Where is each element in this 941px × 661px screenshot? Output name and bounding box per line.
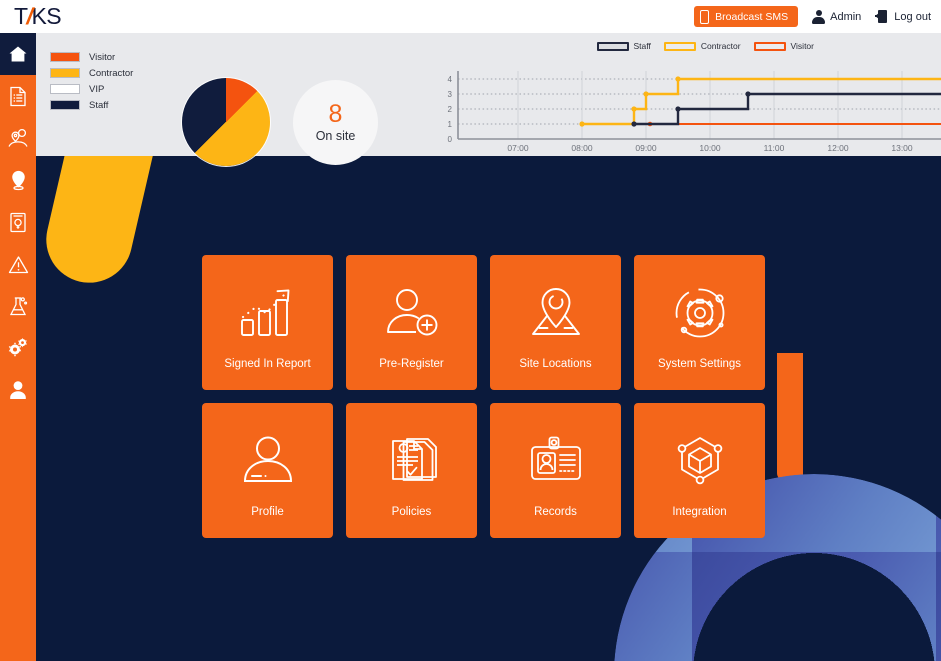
legend-item: Visitor: [50, 50, 133, 64]
legend-swatch-contractor: [50, 68, 80, 78]
svg-text:2: 2: [448, 105, 453, 114]
legend-item: Contractor: [50, 66, 133, 80]
documents-stack-icon: [383, 430, 441, 492]
sidebar-item-hazard[interactable]: [0, 243, 36, 285]
tile-label: System Settings: [658, 358, 741, 370]
tile-label: Policies: [392, 506, 432, 518]
svg-text:09:00: 09:00: [635, 143, 657, 153]
tile-label: Integration: [672, 506, 726, 518]
legend-item-contractor: Contractor: [664, 41, 741, 51]
legend-label-contractor-line: Contractor: [701, 41, 741, 51]
line-chart-legend: Staff Contractor Visitor: [597, 41, 820, 51]
tile-records[interactable]: Records: [490, 403, 621, 538]
tile-policies[interactable]: Policies: [346, 403, 477, 538]
sidebar-item-map-pin[interactable]: [0, 159, 36, 201]
legend-label-visitor: Visitor: [89, 52, 115, 63]
user-icon: [239, 430, 297, 492]
decorative-amber-shape: [38, 156, 165, 291]
tile-integration[interactable]: Integration: [634, 403, 765, 538]
svg-text:4: 4: [448, 75, 453, 84]
lab-flask-icon: [8, 296, 28, 317]
occupancy-line-chart: Staff Contractor Visitor: [410, 41, 941, 153]
legend-item: VIP: [50, 82, 133, 96]
logout-label: Log out: [894, 11, 931, 23]
tile-label: Signed In Report: [224, 358, 310, 370]
line-chart-svg: 0 1 2 3 4 07:00 08:00 09:00 10:00 11:00 …: [410, 41, 941, 153]
logout-icon: [875, 10, 889, 23]
legend-swatch-contractor-line: [664, 42, 696, 51]
legend-item: Staff: [50, 98, 133, 112]
user-menu[interactable]: Admin: [812, 10, 861, 24]
legend-swatch-visitor: [50, 52, 80, 62]
sidebar-item-documents[interactable]: [0, 75, 36, 117]
sidebar-item-permit[interactable]: [0, 201, 36, 243]
sidebar-item-home[interactable]: [0, 33, 36, 75]
svg-text:3: 3: [448, 90, 453, 99]
home-icon: [8, 45, 28, 63]
permit-badge-icon: [9, 212, 27, 233]
pie-legend: Visitor Contractor VIP Staff: [50, 50, 133, 114]
bar-chart-growth-icon: [239, 282, 297, 344]
tile-signed-in-report[interactable]: Signed In Report: [202, 255, 333, 390]
user-add-icon: [383, 282, 441, 344]
stats-strip: Visitor Contractor VIP Staff 8 On site: [36, 33, 941, 156]
person-icon: [9, 380, 27, 400]
pie-slices: [182, 78, 270, 166]
tile-site-locations[interactable]: Site Locations: [490, 255, 621, 390]
tile-label: Pre-Register: [379, 358, 444, 370]
id-card-icon: [527, 430, 585, 492]
tile-pre-register[interactable]: Pre-Register: [346, 255, 477, 390]
legend-label-staff: Staff: [89, 100, 108, 111]
legend-swatch-staff-line: [597, 42, 629, 51]
legend-label-contractor: Contractor: [89, 68, 133, 79]
decorative-orange-shape: [777, 353, 803, 481]
onsite-count: 8: [329, 102, 343, 127]
avatar-icon: [812, 10, 825, 24]
legend-label-staff-line: Staff: [634, 41, 651, 51]
tile-label: Records: [534, 506, 577, 518]
sidebar-item-settings[interactable]: [0, 327, 36, 369]
legend-swatch-vip: [50, 84, 80, 94]
top-bar: T/KS Broadcast SMS Admin Log out: [0, 0, 941, 33]
map-pin-icon: [10, 170, 27, 191]
svg-text:10:00: 10:00: [699, 143, 721, 153]
logout-button[interactable]: Log out: [875, 10, 931, 23]
tile-system-settings[interactable]: System Settings: [634, 255, 765, 390]
logo-suffix: KS: [31, 3, 61, 30]
svg-text:07:00: 07:00: [507, 143, 529, 153]
visitor-location-icon: [7, 128, 29, 148]
legend-item-visitor: Visitor: [754, 41, 814, 51]
legend-swatch-visitor-line: [754, 42, 786, 51]
cube-network-icon: [671, 430, 729, 492]
svg-text:13:00: 13:00: [891, 143, 913, 153]
legend-item-staff: Staff: [597, 41, 651, 51]
map-pin-icon: [527, 282, 585, 344]
svg-text:12:00: 12:00: [827, 143, 849, 153]
warning-triangle-icon: [8, 255, 29, 274]
legend-swatch-staff: [50, 100, 80, 110]
broadcast-sms-button[interactable]: Broadcast SMS: [694, 6, 798, 27]
svg-text:11:00: 11:00: [764, 143, 785, 153]
app-root: T/KS Broadcast SMS Admin Log out: [0, 0, 941, 661]
tile-label: Profile: [251, 506, 284, 518]
broadcast-sms-label: Broadcast SMS: [715, 11, 788, 23]
sidebar: [0, 33, 36, 661]
sidebar-item-profile[interactable]: [0, 369, 36, 411]
svg-text:1: 1: [448, 120, 453, 129]
tile-profile[interactable]: Profile: [202, 403, 333, 538]
legend-label-vip: VIP: [89, 84, 104, 95]
svg-text:08:00: 08:00: [571, 143, 593, 153]
onsite-label: On site: [316, 129, 356, 143]
sidebar-item-visitor-location[interactable]: [0, 117, 36, 159]
tile-label: Site Locations: [519, 358, 591, 370]
sidebar-item-lab[interactable]: [0, 285, 36, 327]
onsite-pie-chart: [182, 78, 270, 166]
dashboard-tiles: Signed In Report Pre-Register: [202, 255, 765, 538]
brand-logo[interactable]: T/KS: [14, 3, 61, 30]
svg-text:0: 0: [448, 135, 453, 144]
document-list-icon: [9, 86, 27, 107]
legend-label-visitor-line: Visitor: [791, 41, 814, 51]
gear-orbit-icon: [671, 282, 729, 344]
phone-icon: [700, 10, 709, 24]
onsite-counter: 8 On site: [293, 80, 378, 165]
dashboard-stage: Signed In Report Pre-Register: [36, 156, 941, 661]
top-bar-actions: Broadcast SMS Admin Log out: [694, 6, 931, 27]
gears-icon: [7, 338, 29, 358]
user-name-label: Admin: [830, 11, 861, 23]
